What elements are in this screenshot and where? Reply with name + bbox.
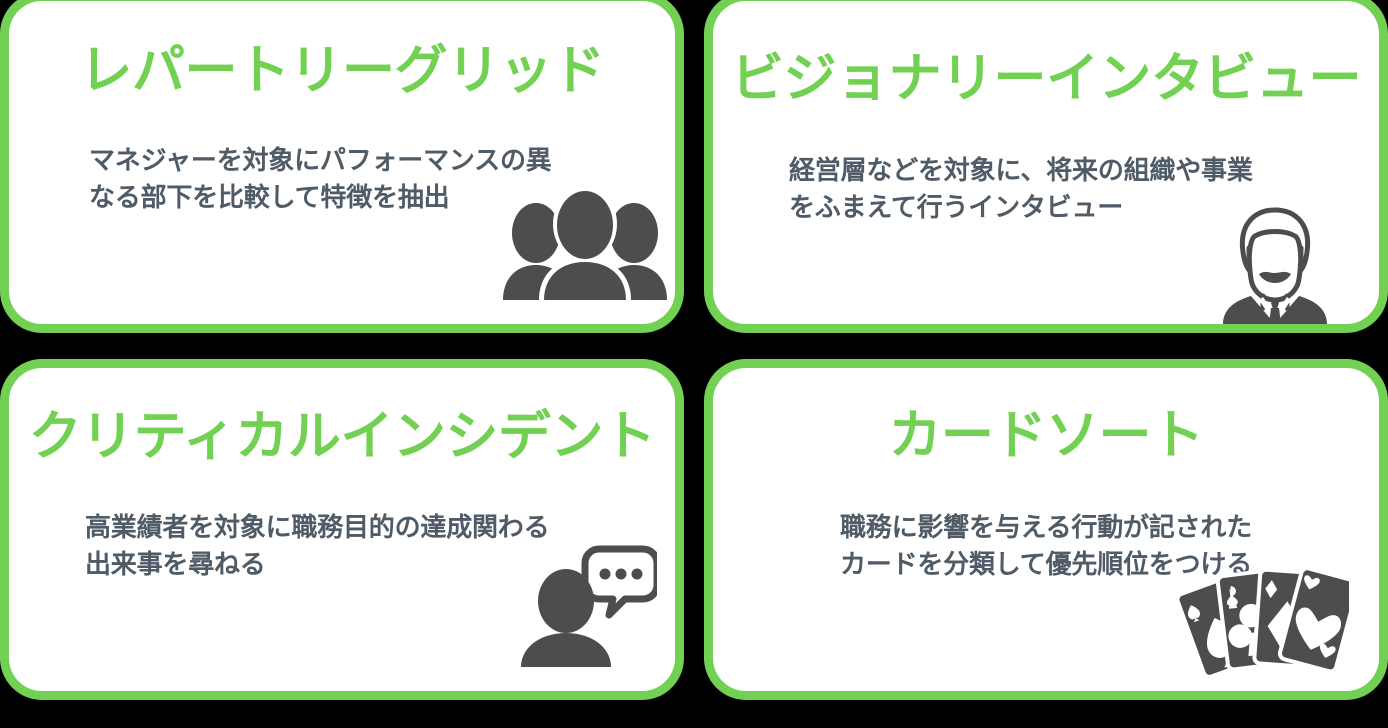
card-inner: クリティカルインシデント 高業績者を対象に職務目的の達成関わる 出来事を尋ねる [9,368,675,691]
card-inner: レパートリーグリッド マネジャーを対象にパフォーマンスの異 なる部下を比較して特… [9,1,675,324]
group-of-people-icon [501,188,669,300]
card-description: 経営層などを対象に、将来の組織や事業 をふまえて行うインタビュー [789,153,1253,227]
card-card-sort[interactable]: カードソート 職務に影響を与える行動が記された カードを分類して優先順位をつける [704,359,1388,700]
card-description: マネジャーを対象にパフォーマンスの異 なる部下を比較して特徴を抽出 [89,143,552,217]
card-title: クリティカルインシデント [9,409,675,465]
card-repertory-grid[interactable]: レパートリーグリッド マネジャーを対象にパフォーマンスの異 なる部下を比較して特… [0,0,684,333]
card-title: ビジョナリーインタビュー [713,51,1379,107]
card-description: 高業績者を対象に職務目的の達成関わる 出来事を尋ねる [85,510,549,584]
person-speech-bubble-icon [521,541,657,667]
playing-cards-icon [1173,557,1349,681]
card-inner: カードソート 職務に影響を与える行動が記された カードを分類して優先順位をつける [713,368,1379,691]
card-inner: ビジョナリーインタビュー 経営層などを対象に、将来の組織や事業 をふまえて行うイ… [713,1,1379,324]
card-title: レパートリーグリッド [9,43,675,99]
cards-board: レパートリーグリッド マネジャーを対象にパフォーマンスの異 なる部下を比較して特… [0,0,1388,728]
card-title: カードソート [713,408,1379,464]
card-critical-incident[interactable]: クリティカルインシデント 高業績者を対象に職務目的の達成関わる 出来事を尋ねる [0,359,684,700]
businessman-icon [1219,204,1331,324]
card-visionary-interview[interactable]: ビジョナリーインタビュー 経営層などを対象に、将来の組織や事業 をふまえて行うイ… [704,0,1388,333]
